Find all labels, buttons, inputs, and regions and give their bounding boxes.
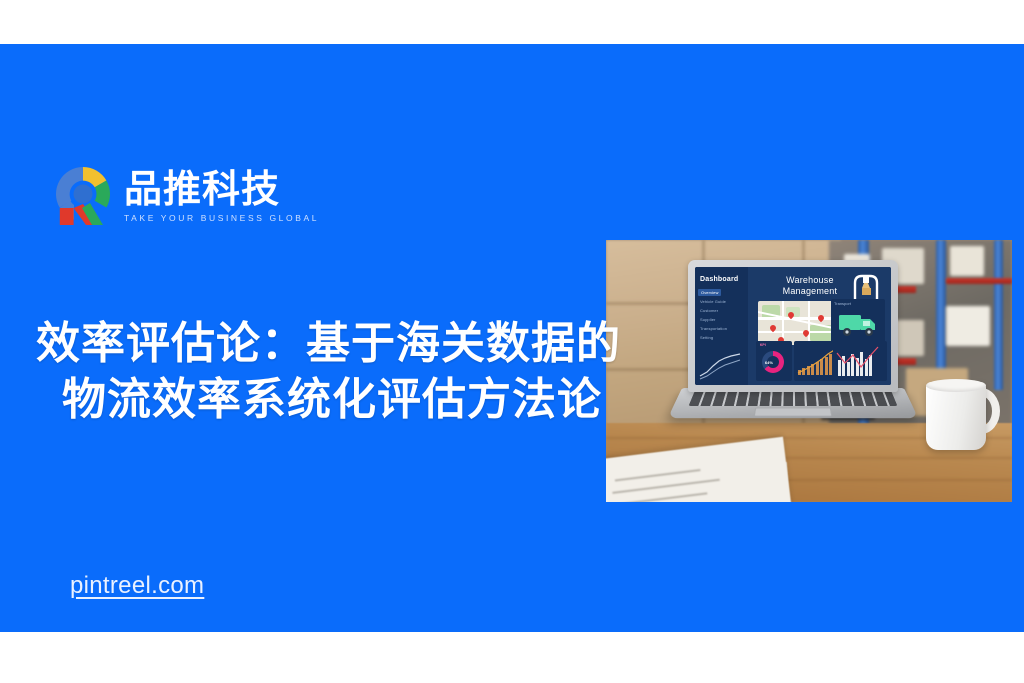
dashboard-heading: Warehouse Management <box>760 275 860 297</box>
shipments-bar-chart-panel <box>833 341 887 381</box>
sidebar-item-vehicle-guide[interactable]: Vehicle Guide <box>700 299 726 304</box>
package <box>946 306 990 346</box>
brand-name-cn: 品推科技 <box>124 167 319 211</box>
kpi-gauge-value: 64% <box>765 360 773 365</box>
rack-upright <box>994 240 1003 390</box>
rack-beam <box>946 278 1012 284</box>
mug-rim <box>926 379 986 392</box>
dashboard-sidebar-title: Dashboard <box>700 276 738 283</box>
coffee-mug <box>926 382 986 450</box>
kpi-gauge-panel: KPI 64% <box>756 341 792 381</box>
sidebar-item-customer[interactable]: Customer <box>700 308 718 313</box>
brand-logo-text: 品推科技 TAKE YOUR BUSINESS GLOBAL <box>124 167 319 224</box>
kpi-label: KPI <box>760 343 766 347</box>
blue-banner: 品推科技 TAKE YOUR BUSINESS GLOBAL <box>0 44 1024 632</box>
sidebar-item-overview[interactable]: Overview <box>698 289 721 296</box>
map-pin <box>818 315 824 323</box>
map-pin <box>803 330 809 338</box>
slide-canvas: 品推科技 TAKE YOUR BUSINESS GLOBAL <box>0 0 1024 683</box>
page-title: 效率评估论：基于海关数据的 物流效率系统化评估方法论 <box>36 316 736 428</box>
delivery-map[interactable] <box>758 301 840 345</box>
page-title-line1: 效率评估论：基于海关数据的 <box>36 316 736 372</box>
map-pin <box>770 325 776 333</box>
transport-panel-label: Transport <box>834 301 851 306</box>
shipments-trend-line <box>833 341 887 381</box>
package <box>950 246 984 276</box>
crane-icon <box>849 273 883 301</box>
brand-tagline: TAKE YOUR BUSINESS GLOBAL <box>124 212 319 224</box>
laptop-trackpad <box>754 408 833 417</box>
map-pin <box>788 312 794 320</box>
website-url-link[interactable]: pintreel.com <box>70 572 204 600</box>
pintreel-circular-logo-icon <box>52 163 114 229</box>
brand-logo[interactable]: 品推科技 TAKE YOUR BUSINESS GLOBAL <box>52 161 267 233</box>
transport-panel: Transport <box>831 299 885 347</box>
dashboard-main: Warehouse Management <box>748 267 891 385</box>
dashboard-heading-line1: Warehouse <box>760 275 860 286</box>
page-title-line2: 物流效率系统化评估方法论 <box>36 372 736 428</box>
dashboard-heading-line2: Management <box>760 286 860 297</box>
truck-icon <box>837 310 879 340</box>
